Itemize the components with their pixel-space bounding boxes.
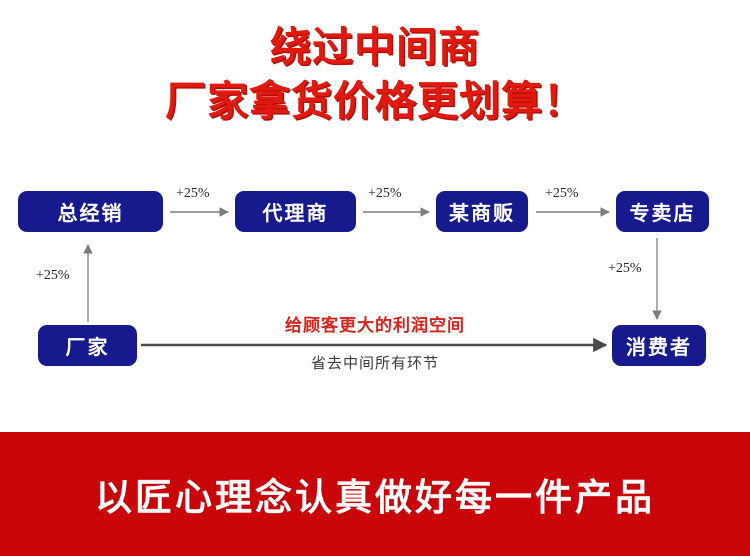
bottom-slogan-banner: 以匠心理念认真做好每一件产品	[0, 432, 750, 556]
direct-channel-subnote: 省去中间所有环节	[0, 352, 750, 373]
node-zongjingxiao[interactable]: 总经销	[18, 191, 163, 232]
node-dailishang[interactable]: 代理商	[235, 191, 356, 232]
markup-label-zhuanmaidian-to-xiaofeizhe: +25%	[608, 261, 642, 277]
markup-label-zongjingxiao-to-dailishang: +25%	[176, 186, 210, 202]
node-zhuanmaidian[interactable]: 专卖店	[616, 191, 709, 232]
markup-label-changjia-to-zongjingxiao: +25%	[36, 268, 70, 284]
bottom-slogan-text: 以匠心理念认真做好每一件产品	[95, 467, 655, 521]
markup-label-dailishang-to-moushangfan: +25%	[368, 186, 402, 202]
distribution-flow-diagram: 总经销 代理商 某商贩 专卖店 厂家 消费者 +25% +25% +25% +2…	[0, 0, 750, 432]
markup-label-moushangfan-to-zhuanmaidian: +25%	[545, 186, 579, 202]
direct-channel-benefit-note: 给顾客更大的利润空间	[0, 311, 750, 336]
node-moushangfan[interactable]: 某商贩	[436, 191, 528, 232]
